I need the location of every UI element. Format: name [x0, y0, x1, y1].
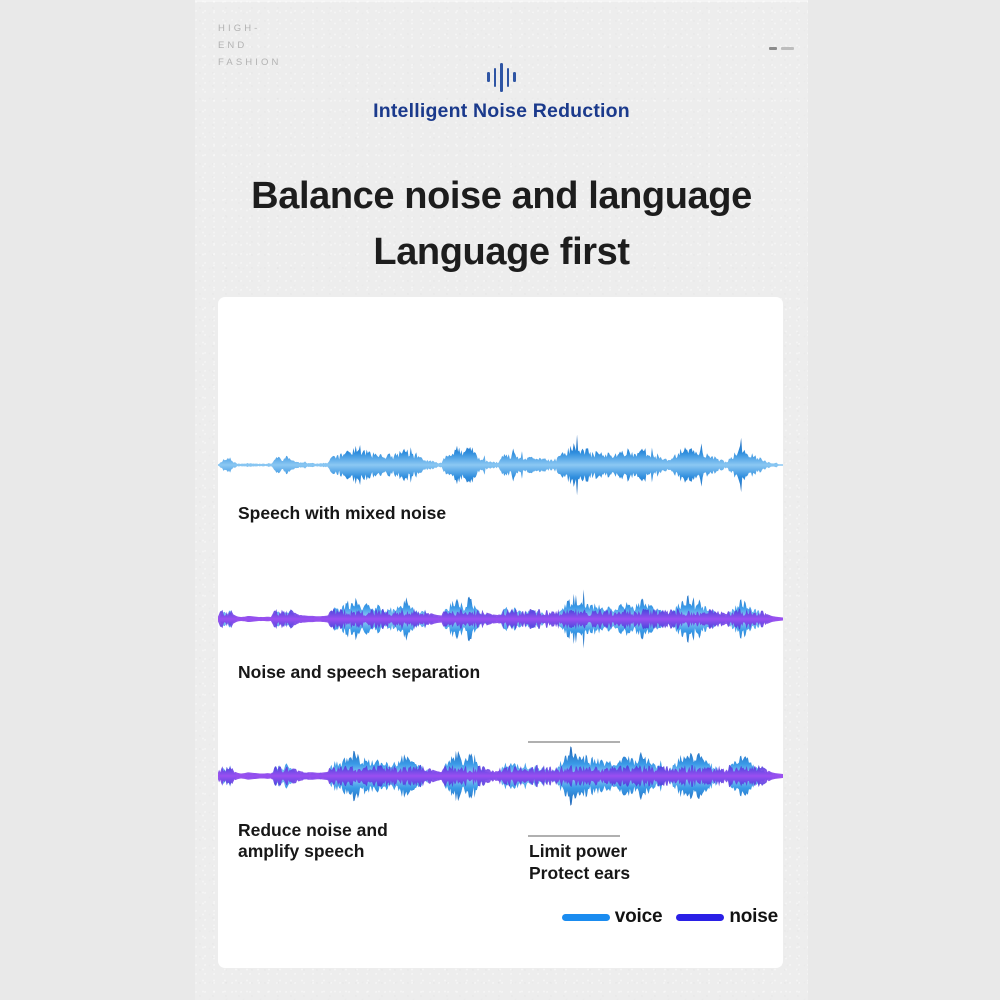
waveform-plot: [218, 435, 783, 495]
limit-power-caption: Limit power Protect ears: [529, 840, 630, 884]
waveform-reduce-noise-and-amplify-speech: [218, 742, 783, 810]
waveform-caption: Speech with mixed noise: [238, 503, 446, 524]
dash-mark-icon: [769, 47, 777, 50]
legend-item-noise: noise: [676, 906, 778, 928]
legend-label-voice: voice: [615, 906, 663, 928]
corner-marks: [769, 47, 794, 50]
waveform-speech-with-mixed-noise: [218, 435, 783, 495]
logo-bar: [487, 72, 490, 82]
legend-item-voice: voice: [562, 906, 663, 928]
page-title: Balance noise and language Language firs…: [195, 168, 808, 280]
content-card: Speech with mixed noise Noise and speech…: [218, 297, 783, 968]
waveform-noise-and-speech-separation: [218, 587, 783, 651]
headline-line-2: Language first: [195, 224, 808, 280]
waveform-plot: [218, 742, 783, 810]
legend-label-noise: noise: [729, 906, 778, 928]
waveform-caption: Reduce noise and amplify speech: [238, 820, 388, 862]
legend: voice noise: [562, 906, 778, 928]
waveform-caption: Noise and speech separation: [238, 662, 480, 683]
sound-wave-logo-icon: [195, 62, 808, 92]
waveform-plot: [218, 587, 783, 651]
logo-bar: [494, 68, 497, 87]
legend-swatch-voice: [562, 914, 610, 921]
logo-bar: [500, 63, 503, 92]
logo-bar: [507, 68, 510, 87]
legend-swatch-noise: [676, 914, 724, 921]
eyebrow-title: Intelligent Noise Reduction: [195, 100, 808, 123]
dash-mark-icon: [781, 47, 794, 50]
limit-line-bottom: [528, 835, 620, 837]
poster-page: HIGH- END FASHION Intelligent Noise Redu…: [195, 0, 808, 1000]
headline-line-1: Balance noise and language: [195, 168, 808, 224]
logo-bar: [513, 72, 516, 82]
